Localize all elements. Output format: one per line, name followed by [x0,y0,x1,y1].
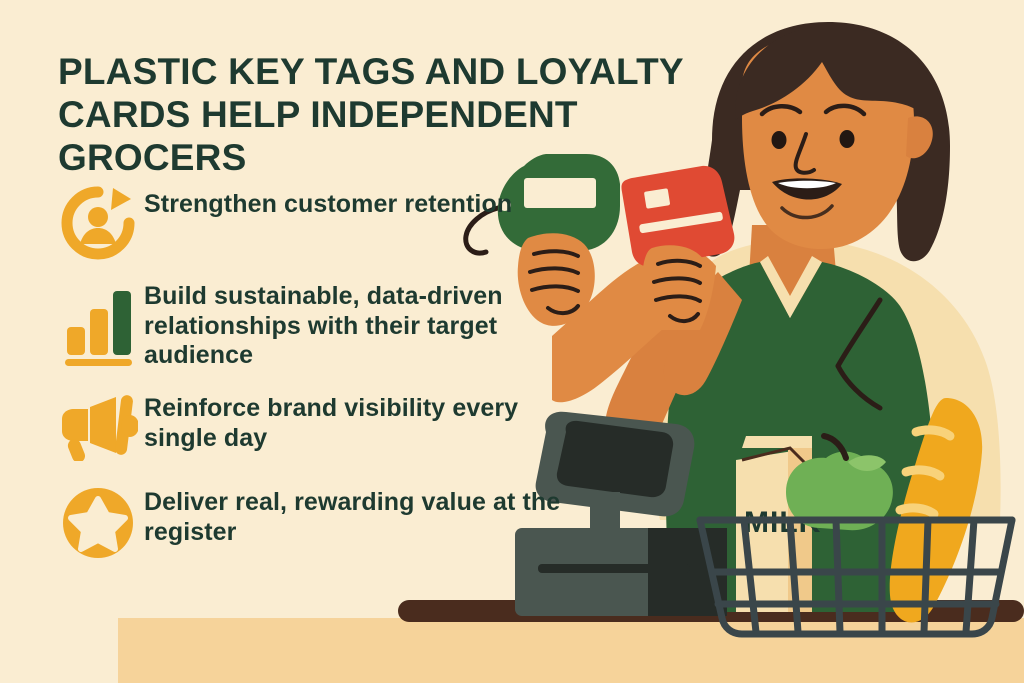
star-badge-icon [52,484,144,562]
list-item: Strengthen customer retention [52,186,592,260]
megaphone-icon [52,390,144,464]
infographic-poster: MILK [0,0,1024,683]
list-item-label: Build sustainable, data-driven relations… [144,278,592,371]
list-item: Deliver real, rewarding value at the reg… [52,484,592,562]
counter-surface [118,618,1024,683]
list-item-label: Reinforce brand visibility every single … [144,390,592,453]
list-item: Build sustainable, data-driven relations… [52,278,592,374]
eye-left [772,131,787,149]
list-item: Reinforce brand visibility every single … [52,390,592,464]
page-title: Plastic Key Tags and Loyalty Cards Help … [58,51,698,180]
bar-chart-icon [52,278,144,374]
benefits-list: Strengthen customer retention Build sust… [52,186,592,584]
eye-right [840,130,855,148]
milk-carton-gable-top [742,436,812,448]
list-item-label: Strengthen customer retention [144,186,512,220]
customer-retention-icon [52,186,144,260]
hand-right [643,245,711,327]
list-item-label: Deliver real, rewarding value at the reg… [144,484,592,547]
